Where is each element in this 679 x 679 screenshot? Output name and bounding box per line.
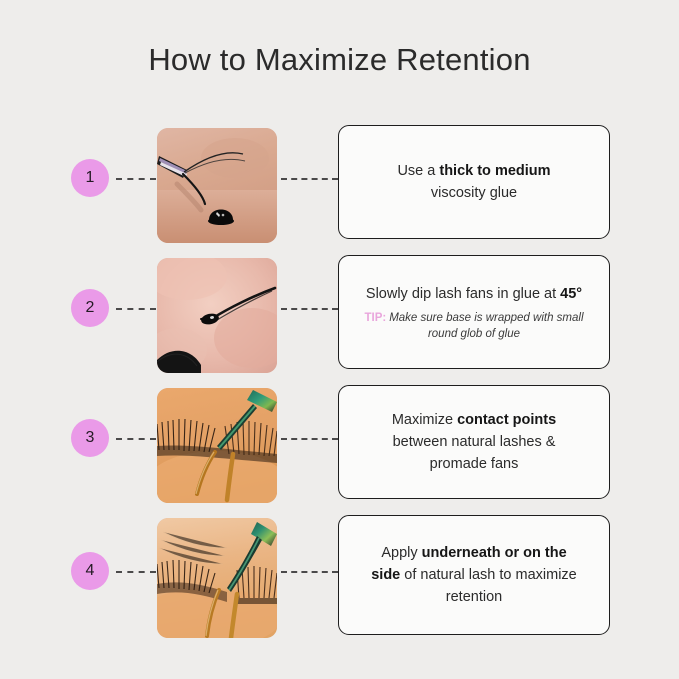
step-card-1: Use a thick to medium viscosity glue <box>338 125 610 239</box>
connector-badge-to-photo-4 <box>116 571 156 573</box>
step-text-line: viscosity glue <box>431 182 517 204</box>
infographic-page: How to Maximize Retention 1 <box>0 0 679 679</box>
step-text-line: side of natural lash to maximize <box>371 564 577 586</box>
step-text-line: Use a thick to medium <box>397 160 550 182</box>
emphasis-text: contact points <box>457 412 556 428</box>
tweezers-lash-glue-drop-photo <box>157 128 277 243</box>
step-text-line: promade fans <box>430 453 519 475</box>
step-text-line: Maximize contact points <box>392 409 556 431</box>
connector-badge-to-photo-3 <box>116 438 156 440</box>
lash-fan-dipped-in-glue-photo <box>157 258 277 373</box>
step-photo-3 <box>157 388 277 503</box>
step-number-3: 3 <box>86 429 95 447</box>
step-photo-4 <box>157 518 277 638</box>
step-photo-2 <box>157 258 277 373</box>
step-row-2: 2 <box>0 255 679 375</box>
step-row-4: 4 <box>0 515 679 640</box>
connector-badge-to-photo-2 <box>116 308 156 310</box>
step-number-4: 4 <box>86 562 95 580</box>
step-photo-1 <box>157 128 277 243</box>
underneath-side-lash-application-photo <box>157 518 277 638</box>
step-badge-1: 1 <box>71 159 109 197</box>
step-text-line: Slowly dip lash fans in glue at 45° <box>366 283 582 305</box>
step-text-line: between natural lashes & <box>393 431 556 453</box>
step-number-1: 1 <box>86 169 95 187</box>
step-row-3: 3 <box>0 385 679 505</box>
connector-badge-to-photo-1 <box>116 178 156 180</box>
tip-label: TIP: <box>364 312 386 324</box>
emphasis-text: side <box>371 567 400 583</box>
step-number-2: 2 <box>86 299 95 317</box>
page-title: How to Maximize Retention <box>0 42 679 78</box>
step-badge-3: 3 <box>71 419 109 457</box>
step-badge-4: 4 <box>71 552 109 590</box>
contact-points-lash-application-photo <box>157 388 277 503</box>
emphasis-text: 45° <box>560 286 582 302</box>
step-card-4: Apply underneath or on the side of natur… <box>338 515 610 635</box>
step-row-1: 1 <box>0 125 679 245</box>
step-card-3: Maximize contact points between natural … <box>338 385 610 499</box>
emphasis-text: thick to medium <box>439 163 550 179</box>
connector-photo-to-card-2 <box>281 308 338 310</box>
connector-photo-to-card-3 <box>281 438 338 440</box>
step-badge-2: 2 <box>71 289 109 327</box>
connector-photo-to-card-4 <box>281 571 338 573</box>
step-text-line: Apply underneath or on the <box>381 542 566 564</box>
emphasis-text: underneath or on the <box>422 545 567 561</box>
tip-text: Make sure base is wrapped with small rou… <box>389 312 583 340</box>
step-card-2: Slowly dip lash fans in glue at 45° TIP:… <box>338 255 610 369</box>
step-tip: TIP:Make sure base is wrapped with small… <box>353 310 595 342</box>
step-text-line: retention <box>446 586 502 608</box>
connector-photo-to-card-1 <box>281 178 338 180</box>
